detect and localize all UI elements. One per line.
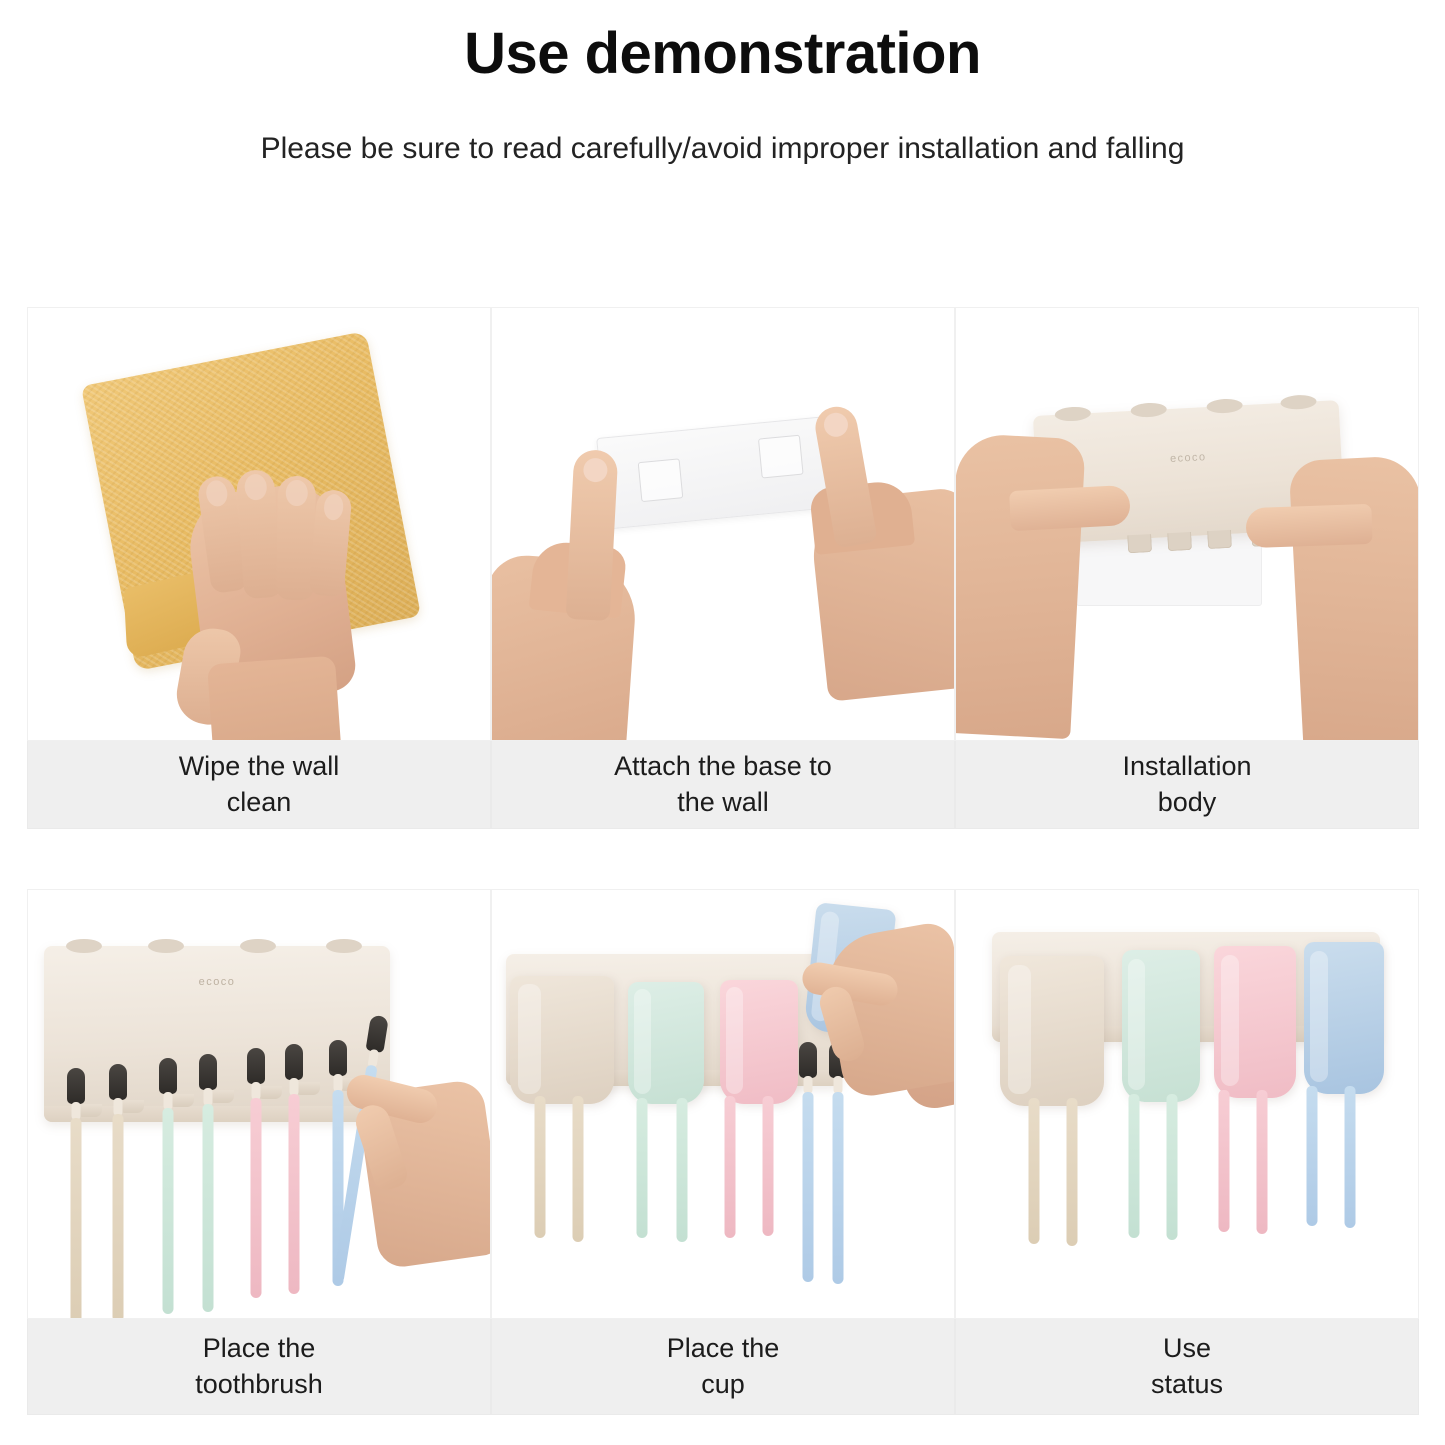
step-card-attach-base: Attach the base to the wall bbox=[491, 307, 955, 829]
step-card-use-status: Use status bbox=[955, 889, 1419, 1415]
brush-handle bbox=[203, 1104, 214, 1312]
brush-handle bbox=[677, 1098, 688, 1242]
caption-line-1: Installation bbox=[1122, 751, 1251, 781]
page-title: Use demonstration bbox=[0, 22, 1445, 86]
brush-handle bbox=[573, 1096, 584, 1242]
brush-clip-3 bbox=[1207, 530, 1232, 549]
step-caption-place-toothbrush: Place the toothbrush bbox=[27, 1319, 491, 1415]
brush-head bbox=[109, 1064, 127, 1100]
right-hand-fingers bbox=[1245, 504, 1372, 548]
caption-line-2: body bbox=[1158, 787, 1217, 817]
step-card-place-toothbrush: ecoco bbox=[27, 889, 491, 1415]
caption-line-2: status bbox=[1151, 1369, 1223, 1399]
cup-mint[interactable] bbox=[628, 982, 704, 1104]
caption-line-1: Wipe the wall bbox=[179, 751, 340, 781]
steps-row-1: Wipe the wall clean bbox=[27, 307, 1419, 829]
step-photo-wipe-wall bbox=[27, 307, 491, 741]
illustration-place-toothbrush: ecoco bbox=[28, 890, 490, 1318]
page-header: Use demonstration Please be sure to read… bbox=[0, 0, 1445, 166]
brush-handle bbox=[803, 1092, 814, 1282]
cup-mint[interactable] bbox=[1122, 950, 1200, 1102]
cup-beige[interactable] bbox=[510, 976, 614, 1104]
brush-handle bbox=[763, 1096, 774, 1236]
caption-line-2: cup bbox=[701, 1369, 745, 1399]
step-caption-place-cup: Place the cup bbox=[491, 1319, 955, 1415]
cup-slot-2 bbox=[1130, 402, 1167, 418]
step-photo-installation-body: ecoco bbox=[955, 307, 1419, 741]
brush-head bbox=[199, 1054, 217, 1090]
caption-line-2: toothbrush bbox=[195, 1369, 323, 1399]
cup-slot-2 bbox=[148, 939, 184, 953]
brush-clip-2 bbox=[1167, 532, 1192, 551]
brush-handle bbox=[1257, 1090, 1268, 1234]
right-hand bbox=[1289, 455, 1419, 741]
brush-handle bbox=[289, 1094, 300, 1294]
steps-grid: Wipe the wall clean bbox=[27, 307, 1419, 1415]
caption-line-1: Attach the base to bbox=[614, 751, 832, 781]
left-hand-fingers bbox=[1009, 485, 1131, 531]
cup-slot-3 bbox=[240, 939, 276, 953]
brand-logo: ecoco bbox=[1170, 451, 1207, 465]
cup-slot-3 bbox=[1206, 398, 1243, 414]
illustration-use-status bbox=[956, 890, 1418, 1318]
brush-handle bbox=[1307, 1086, 1318, 1226]
adhesive-pad-left bbox=[638, 458, 684, 502]
brush-handle bbox=[1167, 1094, 1178, 1240]
left-hand bbox=[955, 433, 1086, 739]
brush-handle bbox=[71, 1118, 82, 1319]
cup-slot-1 bbox=[1054, 406, 1091, 422]
brush-handle bbox=[1219, 1090, 1230, 1232]
step-photo-attach-base bbox=[491, 307, 955, 741]
illustration-place-cup bbox=[492, 890, 954, 1318]
brush-handle bbox=[251, 1098, 262, 1298]
caption-line-1: Place the bbox=[203, 1333, 316, 1363]
illustration-installation-body: ecoco bbox=[956, 308, 1418, 740]
brush-head bbox=[285, 1044, 303, 1080]
caption-line-1: Use bbox=[1163, 1333, 1211, 1363]
wrist bbox=[207, 656, 341, 741]
caption-line-1: Place the bbox=[667, 1333, 780, 1363]
brush-handle bbox=[833, 1092, 844, 1284]
brush-handle bbox=[113, 1114, 124, 1319]
cup-beige[interactable] bbox=[1000, 956, 1104, 1106]
step-photo-place-toothbrush: ecoco bbox=[27, 889, 491, 1319]
brush-handle bbox=[1129, 1094, 1140, 1238]
step-caption-use-status: Use status bbox=[955, 1319, 1419, 1415]
page-subtitle: Please be sure to read carefully/avoid i… bbox=[0, 132, 1445, 166]
cup-pink[interactable] bbox=[720, 980, 798, 1104]
brush-handle bbox=[1029, 1098, 1040, 1244]
adhesive-pad-right bbox=[758, 435, 804, 479]
cup-slot-1 bbox=[66, 939, 102, 953]
step-photo-use-status bbox=[955, 889, 1419, 1319]
brush-head bbox=[67, 1068, 85, 1104]
brush-handle bbox=[1345, 1086, 1356, 1228]
cup-blue[interactable] bbox=[1304, 942, 1384, 1094]
brush-handle bbox=[163, 1108, 174, 1314]
illustration-wipe-wall bbox=[28, 308, 490, 740]
brush-handle bbox=[535, 1096, 546, 1238]
brush-head bbox=[159, 1058, 177, 1094]
caption-line-2: clean bbox=[227, 787, 292, 817]
step-card-wipe-wall: Wipe the wall clean bbox=[27, 307, 491, 829]
brush-handle bbox=[725, 1096, 736, 1238]
step-card-place-cup: Place the cup bbox=[491, 889, 955, 1415]
illustration-attach-base bbox=[492, 308, 954, 740]
brush-clip-1 bbox=[1127, 534, 1152, 553]
cup-pink[interactable] bbox=[1214, 946, 1296, 1098]
brush-head bbox=[329, 1040, 347, 1076]
brush-handle bbox=[1067, 1098, 1078, 1246]
brush-head bbox=[247, 1048, 265, 1084]
left-index-finger bbox=[566, 449, 619, 621]
steps-row-2: ecoco bbox=[27, 889, 1419, 1415]
brush-handle bbox=[637, 1098, 648, 1238]
step-caption-wipe-wall: Wipe the wall clean bbox=[27, 741, 491, 829]
step-card-installation-body: ecoco Installation body bbox=[955, 307, 1419, 829]
caption-line-2: the wall bbox=[677, 787, 769, 817]
brush-head bbox=[799, 1042, 817, 1078]
step-photo-place-cup bbox=[491, 889, 955, 1319]
step-caption-attach-base: Attach the base to the wall bbox=[491, 741, 955, 829]
brand-logo: ecoco bbox=[199, 976, 236, 988]
cup-slot-4 bbox=[326, 939, 362, 953]
step-caption-installation-body: Installation body bbox=[955, 741, 1419, 829]
cup-slot-4 bbox=[1280, 394, 1317, 410]
